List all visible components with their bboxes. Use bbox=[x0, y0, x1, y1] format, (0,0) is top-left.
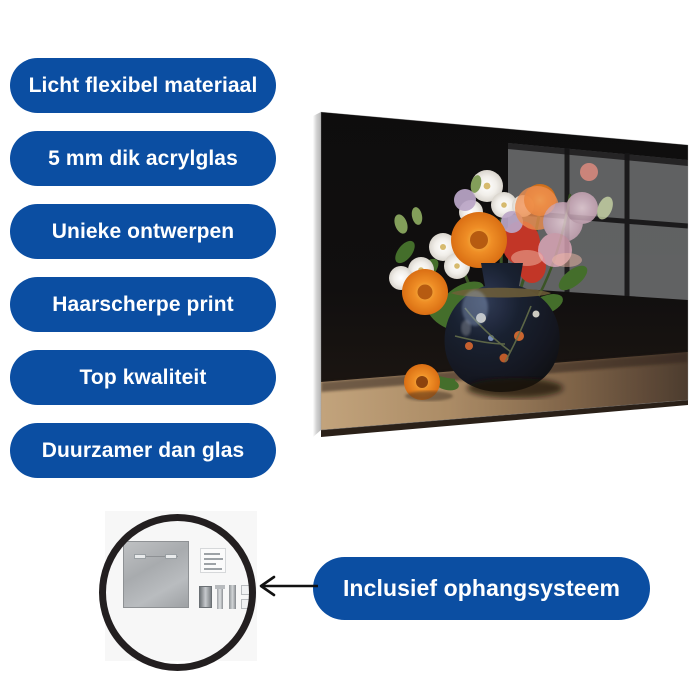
feature-badge-5-mm-dik-acrylglas: 5 mm dik acrylglas bbox=[10, 131, 276, 186]
feature-badge-unieke-ontwerpen: Unieke ontwerpen bbox=[10, 204, 276, 259]
panel-artwork bbox=[305, 100, 695, 445]
circle-outline-icon bbox=[99, 514, 256, 671]
acrylic-panel-illustration bbox=[305, 100, 695, 445]
feature-badge-top-kwaliteit: Top kwaliteit bbox=[10, 350, 276, 405]
arrow-left-icon bbox=[248, 572, 320, 600]
feature-badge-duurzamer-dan-glas: Duurzamer dan glas bbox=[10, 423, 276, 478]
feature-badge-inclusief-ophangsysteem: Inclusief ophangsysteem bbox=[313, 557, 650, 620]
feature-badge-haarscherpe-print: Haarscherpe print bbox=[10, 277, 276, 332]
product-panel bbox=[305, 100, 695, 445]
feature-badge-licht-flexibel-materiaal: Licht flexibel materiaal bbox=[10, 58, 276, 113]
hanging-kit-callout bbox=[99, 514, 256, 671]
acrylic-edge-left bbox=[313, 112, 321, 437]
product-feature-graphic: Licht flexibel materiaal 5 mm dik acrylg… bbox=[0, 0, 700, 700]
